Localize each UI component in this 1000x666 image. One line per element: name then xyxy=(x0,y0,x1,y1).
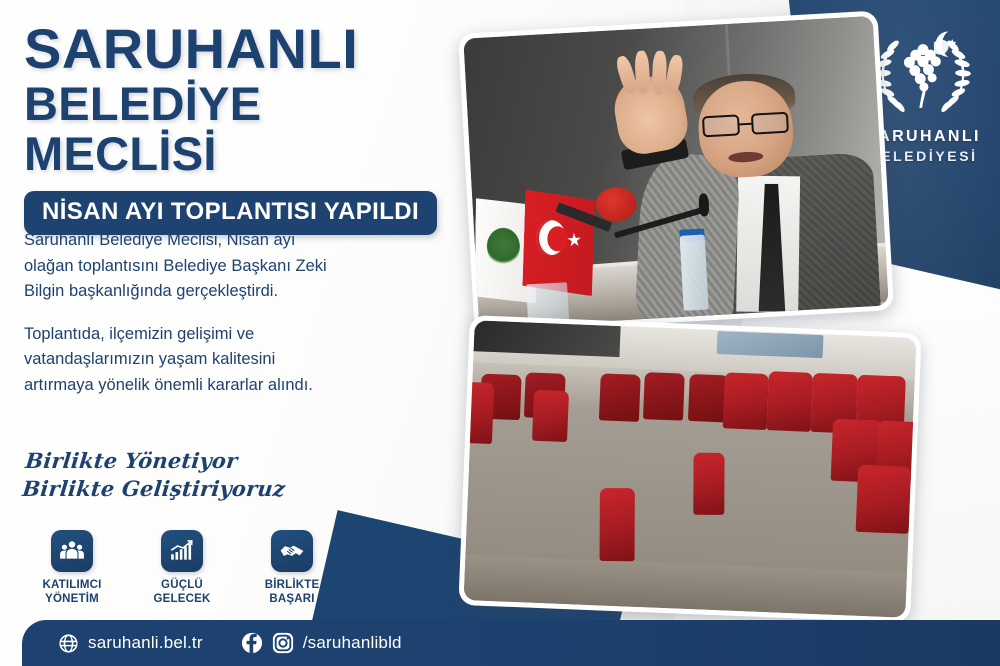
facebook-icon[interactable] xyxy=(241,632,263,654)
globe-icon xyxy=(58,633,79,654)
value-label-line-2: YÖNETİM xyxy=(30,592,114,606)
headline-block: SARUHANLI BELEDİYE MECLİSİ NİSAN AYI TOP… xyxy=(24,22,454,235)
seat xyxy=(694,453,725,515)
seat xyxy=(723,372,769,430)
hall-window xyxy=(717,331,824,358)
council-podium-scene xyxy=(463,16,889,328)
value-icons-row: KATILIMCI YÖNETİM GÜÇLÜ GELECEK xyxy=(30,530,334,607)
flag-crescent-icon xyxy=(535,219,565,255)
footer-social-group[interactable]: /saruhanlibld xyxy=(241,632,402,654)
seat xyxy=(856,465,912,534)
seat xyxy=(532,390,569,442)
hall-dark-panel xyxy=(474,320,621,357)
value-label: BİRLİKTE BAŞARI xyxy=(250,578,334,607)
value-label-line-1: GÜÇLÜ xyxy=(140,578,224,592)
slogan-line-2: Birlikte Geliştiriyoruz xyxy=(21,475,286,503)
headline-line-2: BELEDİYE MECLİSİ xyxy=(24,79,454,179)
growth-chart-icon xyxy=(169,538,195,564)
value-label: GÜÇLÜ GELECEK xyxy=(140,578,224,607)
people-group-icon xyxy=(59,538,85,564)
value-label-line-2: GELECEK xyxy=(140,592,224,606)
paragraph-2: Toplantıda, ilçemizin gelişimi ve vatand… xyxy=(24,322,344,399)
value-label-line-1: BİRLİKTE xyxy=(250,578,334,592)
poster-canvas: SARUHANLI BELEDİYE MECLİSİ NİSAN AYI TOP… xyxy=(0,0,1000,666)
photo-mayor-speaking xyxy=(458,11,894,334)
audience-hall-scene xyxy=(464,320,917,618)
seat xyxy=(464,381,495,444)
instagram-icon[interactable] xyxy=(272,632,294,654)
photo-audience xyxy=(458,315,921,623)
slogan-line-1: Birlikte Yönetiyor xyxy=(24,447,289,475)
photo-audience-frame xyxy=(464,320,917,618)
footer-bar: saruhanli.bel.tr /saruhanlibld xyxy=(22,620,1000,666)
value-badge xyxy=(51,530,93,572)
slogan-block: Birlikte Yönetiyor Birlikte Geliştiriyor… xyxy=(21,447,289,503)
value-item-participatory-management: KATILIMCI YÖNETİM xyxy=(30,530,114,607)
headline-line-1: SARUHANLI xyxy=(24,22,454,77)
photo-mayor-speaking-frame xyxy=(463,16,889,328)
water-bottle xyxy=(680,234,709,311)
value-badge xyxy=(161,530,203,572)
seat xyxy=(767,371,814,432)
laurel-wreath-grapes-crescent-icon xyxy=(868,26,978,126)
value-badge xyxy=(271,530,313,572)
value-label-line-1: KATILIMCI xyxy=(30,578,114,592)
value-item-together-success: BİRLİKTE BAŞARI xyxy=(250,530,334,607)
seat xyxy=(599,488,635,561)
handshake-icon xyxy=(279,538,305,564)
value-label-line-2: BAŞARI xyxy=(250,592,334,606)
body-copy: Saruhanlı Belediye Meclisi, Nisan ayı ol… xyxy=(24,228,344,415)
hand-finger xyxy=(651,50,666,94)
desk-microphone-icon xyxy=(698,193,710,217)
value-item-strong-future: GÜÇLÜ GELECEK xyxy=(140,530,224,607)
footer-website-group[interactable]: saruhanli.bel.tr xyxy=(58,633,203,654)
seat xyxy=(599,373,641,422)
value-label: KATILIMCI YÖNETİM xyxy=(30,578,114,607)
footer-social-handle: /saruhanlibld xyxy=(303,633,402,653)
footer-website-text: saruhanli.bel.tr xyxy=(88,633,203,653)
paragraph-1: Saruhanlı Belediye Meclisi, Nisan ayı ol… xyxy=(24,228,344,305)
seat xyxy=(643,372,685,421)
